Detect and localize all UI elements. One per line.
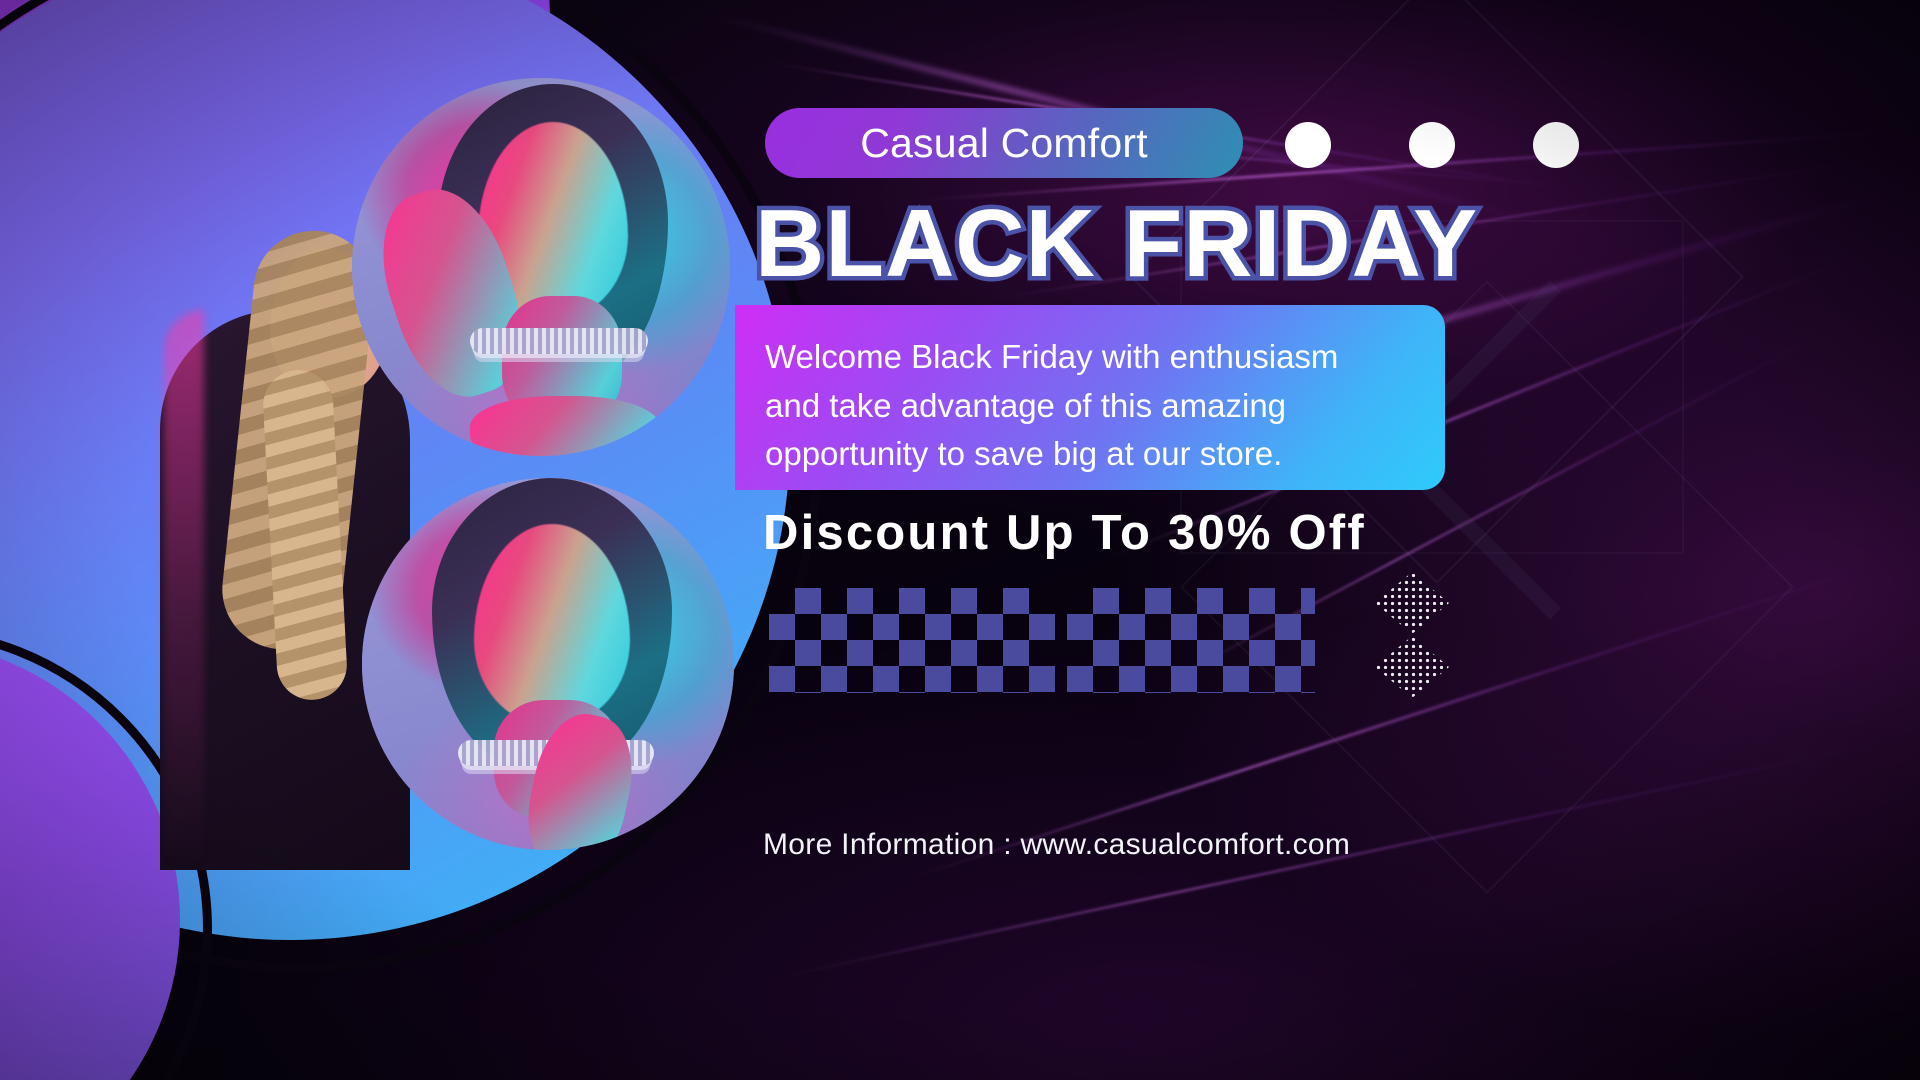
dot-icon-3 (1533, 122, 1579, 168)
description-text: Welcome Black Friday with enthusiasm and… (765, 333, 1395, 479)
diamond-icon-bottom (1375, 636, 1449, 698)
checker-pattern-right (1067, 588, 1315, 693)
brand-badge[interactable]: Casual Comfort (765, 108, 1243, 178)
dot-icon-1 (1285, 122, 1331, 168)
dot-decor-group (1285, 122, 1605, 170)
diamond-decor-group (1367, 572, 1457, 700)
model-photo-bottom (362, 478, 734, 850)
description-panel: Welcome Black Friday with enthusiasm and… (735, 305, 1445, 490)
content-column: Casual Comfort BLACK FRIDAY Welcome Blac… (755, 0, 1920, 1080)
description-line-3: opportunity to save big at our store. (765, 430, 1395, 479)
more-information-text: More Information : www.casualcomfort.com (763, 828, 1763, 862)
description-line-1: Welcome Black Friday with enthusiasm (765, 333, 1395, 382)
description-line-2: and take advantage of this amazing (765, 382, 1395, 431)
page-title: BLACK FRIDAY (755, 196, 1755, 292)
diamond-icon-top (1375, 572, 1449, 634)
dot-icon-2 (1409, 122, 1455, 168)
model-photo-top (352, 78, 730, 456)
black-friday-banner: Casual Comfort BLACK FRIDAY Welcome Blac… (0, 0, 1920, 1080)
checker-pattern-left (769, 588, 1055, 693)
brand-badge-label: Casual Comfort (860, 120, 1148, 167)
discount-headline: Discount Up To 30% Off (763, 505, 1863, 561)
